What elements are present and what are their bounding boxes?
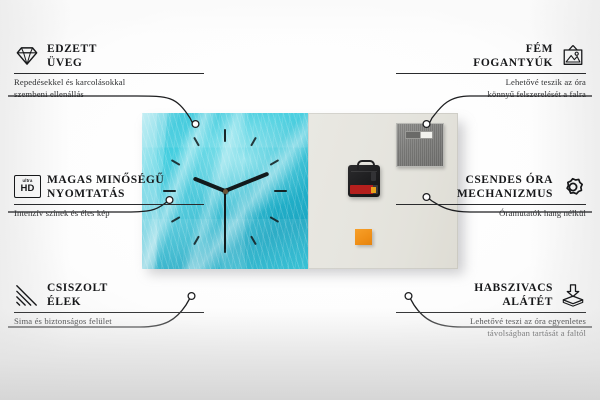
callout-title: CSENDES ÓRA MECHANIZMUS xyxy=(457,173,553,201)
ultra-hd-icon: ultra HD xyxy=(14,175,40,199)
callout-subtitle: Óramutatók hang nélkül xyxy=(396,208,586,220)
callout-title: FÉM FOGANTYÚK xyxy=(473,42,553,70)
callout-polished-edges[interactable]: CSISZOLT ÉLEK Sima és biztonságos felüle… xyxy=(14,281,204,328)
callout-header: ultra HD MAGAS MINŐSÉGŰ NYOMTATÁS xyxy=(14,173,204,201)
clock-center-pin xyxy=(223,189,228,194)
callout-high-quality-print[interactable]: ultra HD MAGAS MINŐSÉGŰ NYOMTATÁS Intenz… xyxy=(14,173,204,220)
hanging-picture-icon xyxy=(560,44,586,68)
callout-metal-handles[interactable]: FÉM FOGANTYÚK Lehetővé teszik az óra kön… xyxy=(396,42,586,100)
mechanism-setting-knob xyxy=(371,172,376,181)
callout-subtitle: Sima és biztonságos felület xyxy=(14,316,204,328)
callout-title: CSISZOLT ÉLEK xyxy=(47,281,108,309)
callout-silent-mechanism[interactable]: CSENDES ÓRA MECHANIZMUS Óramutatók hang … xyxy=(396,173,586,220)
infographic-stage: EDZETT ÜVEG Repedésekkel és karcolásokka… xyxy=(0,0,600,400)
quartz-mechanism-box xyxy=(348,165,380,197)
callout-divider xyxy=(396,312,586,313)
diamond-icon xyxy=(14,44,40,68)
callout-title: EDZETT ÜVEG xyxy=(47,42,97,70)
callout-header: HABSZIVACS ALÁTÉT xyxy=(396,281,586,309)
callout-divider xyxy=(14,312,204,313)
callout-subtitle: Repedésekkel és karcolásokkal szembeni e… xyxy=(14,77,204,100)
metal-hanger-plate xyxy=(396,123,444,167)
top-gradient xyxy=(0,0,600,36)
mechanism-hanging-loop xyxy=(357,160,375,170)
hanger-slot xyxy=(405,131,433,139)
battery-terminal xyxy=(371,187,376,193)
callout-subtitle: Intenzív színek és éles kép xyxy=(14,208,204,220)
callout-header: CSISZOLT ÉLEK xyxy=(14,281,204,309)
foam-spacer-pad xyxy=(355,229,372,245)
foam-pad-arrow-icon xyxy=(560,283,586,307)
callout-title: MAGAS MINŐSÉGŰ NYOMTATÁS xyxy=(47,173,164,201)
callout-header: EDZETT ÜVEG xyxy=(14,42,204,70)
callout-divider xyxy=(14,73,204,74)
gear-icon xyxy=(560,175,586,199)
callout-divider xyxy=(396,204,586,205)
callout-tempered-glass[interactable]: EDZETT ÜVEG Repedésekkel és karcolásokka… xyxy=(14,42,204,100)
callout-foam-spacer[interactable]: HABSZIVACS ALÁTÉT Lehetővé teszi az óra … xyxy=(396,281,586,339)
callout-header: CSENDES ÓRA MECHANIZMUS xyxy=(396,173,586,201)
sanded-edges-icon xyxy=(14,283,40,307)
callout-divider xyxy=(396,73,586,74)
callout-header: FÉM FOGANTYÚK xyxy=(396,42,586,70)
callout-title: HABSZIVACS ALÁTÉT xyxy=(474,281,553,309)
callout-subtitle: Lehetővé teszik az óra könnyű felszerelé… xyxy=(396,77,586,100)
callout-divider xyxy=(14,204,204,205)
callout-subtitle: Lehetővé teszi az óra egyenletes távolsá… xyxy=(396,316,586,339)
